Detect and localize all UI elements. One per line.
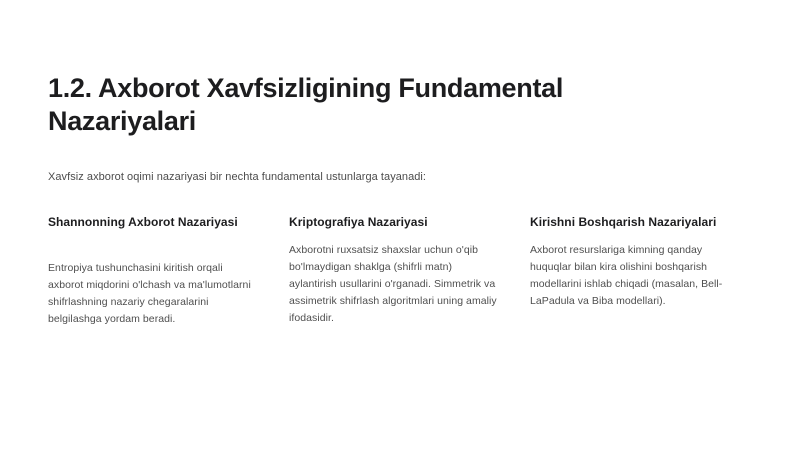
column-body: Axborot resurslariga kimning qanday huqu… bbox=[530, 230, 742, 310]
column-access-control-theory: Kirishni Boshqarish Nazariyalari Axborot… bbox=[530, 214, 742, 310]
column-heading: Shannonning Axborot Nazariyasi bbox=[48, 214, 260, 230]
slide-canvas: 1.2. Axborot Xavfsizligining Fundamental… bbox=[0, 0, 800, 450]
column-body: Axborotni ruxsatsiz shaxslar uchun o'qib… bbox=[289, 230, 501, 327]
slide-content: 1.2. Axborot Xavfsizligining Fundamental… bbox=[48, 72, 752, 328]
page-title: 1.2. Axborot Xavfsizligining Fundamental… bbox=[48, 72, 638, 138]
column-cryptography-theory: Kriptografiya Nazariyasi Axborotni ruxsa… bbox=[289, 214, 501, 327]
column-shannon-theory: Shannonning Axborot Nazariyasi Entropiya… bbox=[48, 214, 260, 328]
theory-columns: Shannonning Axborot Nazariyasi Entropiya… bbox=[48, 185, 752, 328]
column-heading: Kriptografiya Nazariyasi bbox=[289, 214, 501, 230]
column-body: Entropiya tushunchasini kiritish orqali … bbox=[48, 230, 260, 328]
lead-paragraph: Xavfsiz axborot oqimi nazariyasi bir nec… bbox=[48, 138, 752, 185]
column-heading: Kirishni Boshqarish Nazariyalari bbox=[530, 214, 742, 230]
